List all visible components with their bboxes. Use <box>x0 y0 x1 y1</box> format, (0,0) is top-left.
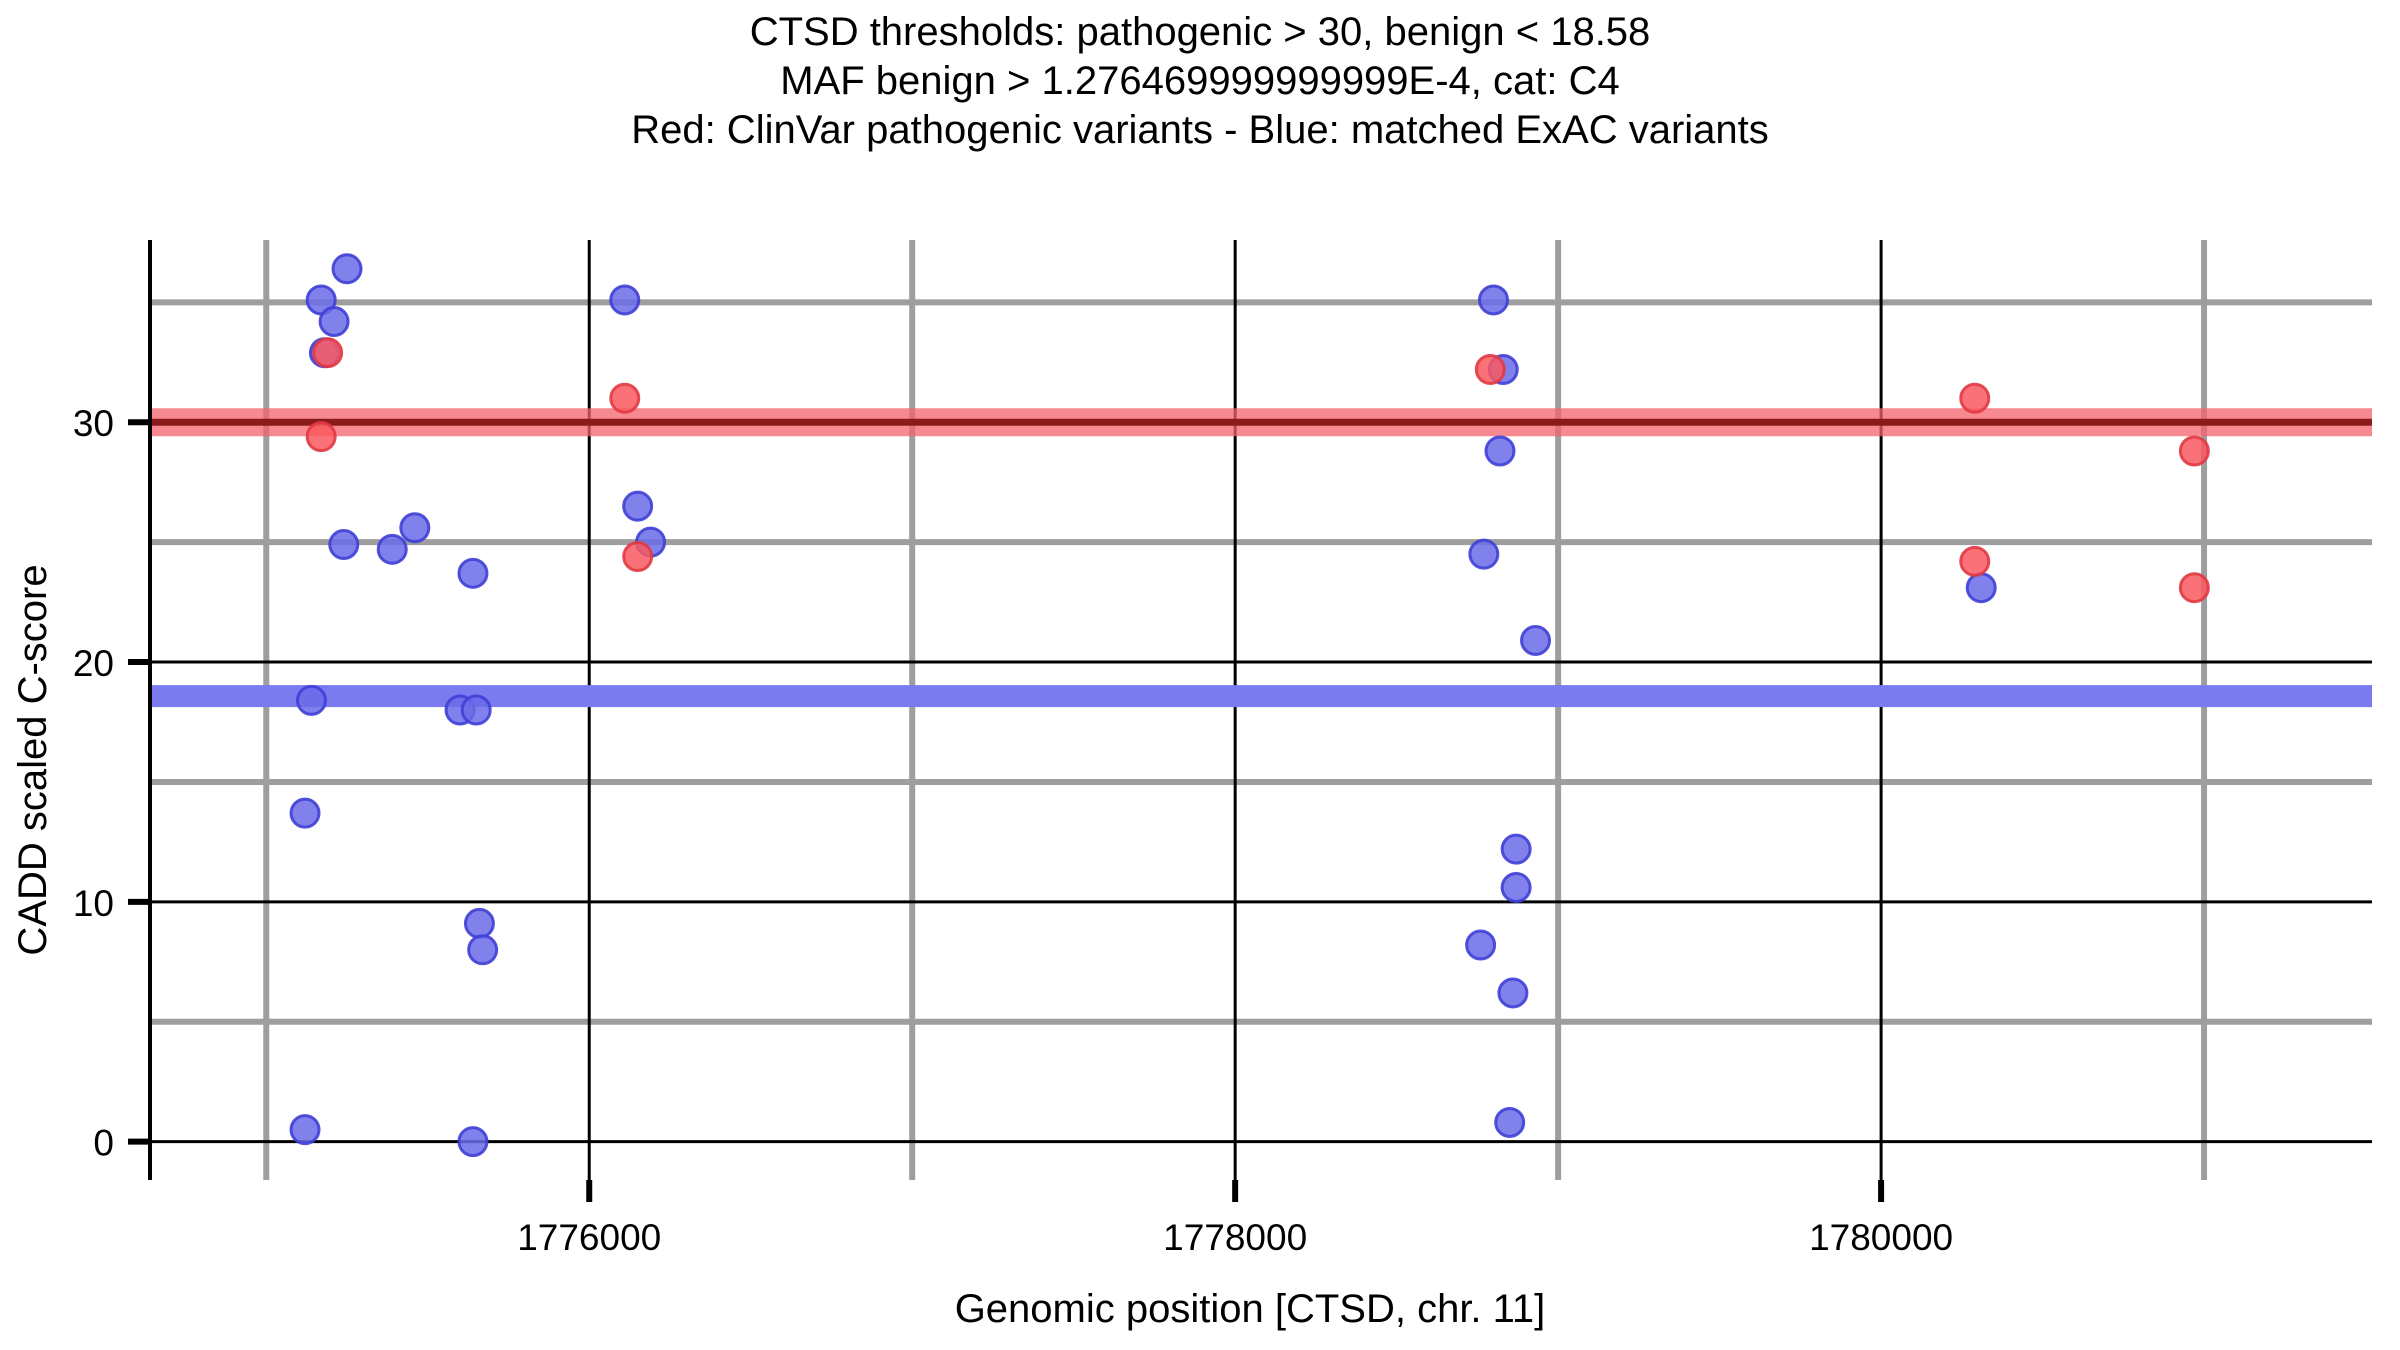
pathogenic-data-point <box>1961 547 1989 575</box>
pathogenic-data-point <box>2180 574 2208 602</box>
y-tick-label: 30 <box>73 403 114 444</box>
x-tick-label: 1776000 <box>517 1217 661 1258</box>
pathogenic-data-point <box>307 423 335 451</box>
exac-data-point <box>1499 979 1527 1007</box>
exac-data-point <box>624 492 652 520</box>
exac-data-point <box>1502 835 1530 863</box>
exac-data-point <box>469 936 497 964</box>
y-tick-label: 20 <box>73 643 114 684</box>
exac-data-point <box>401 514 429 542</box>
exac-data-point <box>1502 873 1530 901</box>
exac-data-point <box>1486 437 1514 465</box>
exac-data-point <box>330 531 358 559</box>
pathogenic-data-point <box>1476 355 1504 383</box>
exac-data-point <box>1967 574 1995 602</box>
scatter-plot-figure: CTSD thresholds: pathogenic > 30, benign… <box>0 0 2400 1350</box>
x-tick-label: 1780000 <box>1809 1217 1953 1258</box>
exac-data-point <box>611 286 639 314</box>
x-tick-label: 1778000 <box>1163 1217 1307 1258</box>
y-axis-title: CADD scaled C-score <box>11 564 55 955</box>
x-axis-title: Genomic position [CTSD, chr. 11] <box>955 1287 1546 1331</box>
exac-data-point <box>1522 626 1550 654</box>
pathogenic-data-point <box>611 384 639 412</box>
exac-data-point <box>378 535 406 563</box>
exac-data-point <box>459 559 487 587</box>
exac-data-point <box>297 686 325 714</box>
exac-data-point <box>1496 1108 1524 1136</box>
exac-data-point <box>320 308 348 336</box>
pathogenic-data-point <box>1961 384 1989 412</box>
pathogenic-data-point <box>314 339 342 367</box>
exac-data-point <box>291 799 319 827</box>
exac-data-point <box>291 1116 319 1144</box>
exac-data-point <box>1480 286 1508 314</box>
exac-data-point <box>465 909 493 937</box>
exac-data-point <box>462 696 490 724</box>
exac-data-point <box>459 1128 487 1156</box>
pathogenic-data-point <box>624 543 652 571</box>
exac-data-point <box>333 255 361 283</box>
y-tick-label: 10 <box>73 883 114 924</box>
y-tick-label: 0 <box>93 1123 114 1164</box>
tick-labels-group: 0102030177600017780001780000 <box>73 403 1953 1258</box>
pathogenic-data-point <box>2180 437 2208 465</box>
chart-canvas: 0102030177600017780001780000 CADD scaled… <box>0 0 2400 1350</box>
exac-data-point <box>1470 540 1498 568</box>
exac-data-point <box>1467 931 1495 959</box>
